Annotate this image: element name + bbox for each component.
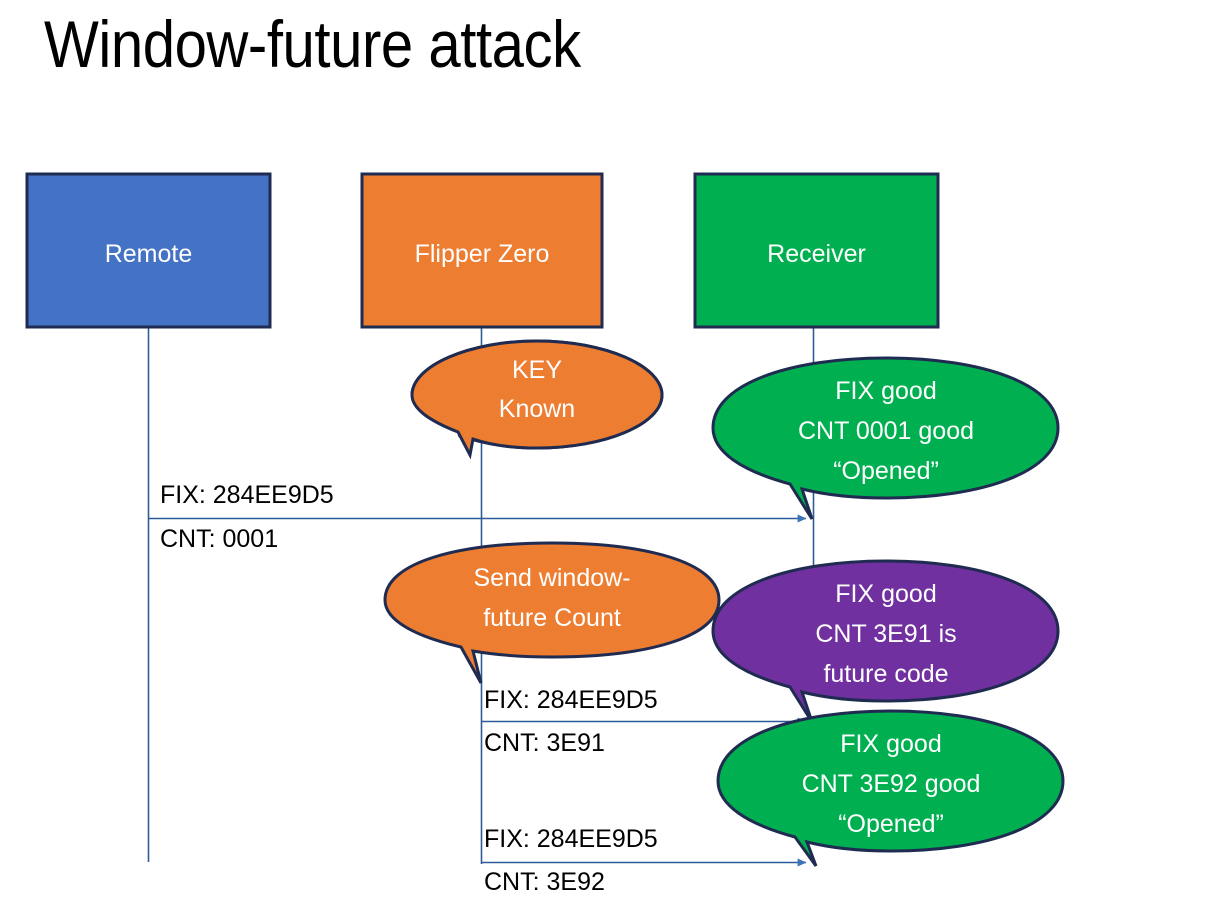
callout-key-known[interactable]: KEY Known [412,341,662,455]
callout-fix-good-3e91-future-line-2: CNT 3E91 is [815,620,956,648]
callout-fix-good-3e92-line-3: “Opened” [838,810,944,838]
actor-box-remote[interactable]: Remote [27,174,270,327]
callout-send-window-future-line-2: future Count [483,604,621,632]
callout-fix-good-0001-line-3: “Opened” [833,457,939,485]
callout-fix-good-3e91-future-line-3: future code [823,660,948,688]
message-2-above-label: FIX: 284EE9D5 [484,686,658,714]
message-2-below-label: CNT: 3E91 [484,729,605,757]
callout-fix-good-3e92[interactable]: FIX good CNT 3E92 good “Opened” [718,711,1063,866]
callout-key-known-line-2: Known [499,395,575,423]
callout-fix-good-3e91-future-line-1: FIX good [835,580,936,608]
callout-fix-good-0001-line-1: FIX good [835,377,936,405]
callout-fix-good-0001-line-2: CNT 0001 good [798,417,974,445]
actor-label-remote: Remote [105,240,193,268]
actor-label-receiver: Receiver [767,240,866,268]
message-3-above-label: FIX: 284EE9D5 [484,825,658,853]
slide-canvas: Window-future attack FIX: 284EE9D5 CNT: … [0,0,1216,898]
callout-fix-good-3e92-line-1: FIX good [840,730,941,758]
callout-send-window-future-line-1: Send window- [473,564,630,592]
sequence-diagram: FIX: 284EE9D5 CNT: 0001 FIX: 284EE9D5 CN… [0,0,1216,898]
actor-label-flipper-zero: Flipper Zero [415,240,550,268]
actor-box-flipper-zero[interactable]: Flipper Zero [362,174,602,327]
callout-send-window-future[interactable]: Send window- future Count [385,543,719,683]
message-1-below-label: CNT: 0001 [160,525,278,553]
callout-fix-good-0001[interactable]: FIX good CNT 0001 good “Opened” [713,358,1058,519]
callout-key-known-line-1: KEY [512,356,562,384]
actor-box-receiver[interactable]: Receiver [695,174,938,327]
callout-fix-good-3e91-future[interactable]: FIX good CNT 3E91 is future code [713,561,1058,722]
message-3-below-label: CNT: 3E92 [484,868,605,896]
callout-fix-good-3e92-line-2: CNT 3E92 good [802,770,981,798]
message-1-above-label: FIX: 284EE9D5 [160,481,334,509]
